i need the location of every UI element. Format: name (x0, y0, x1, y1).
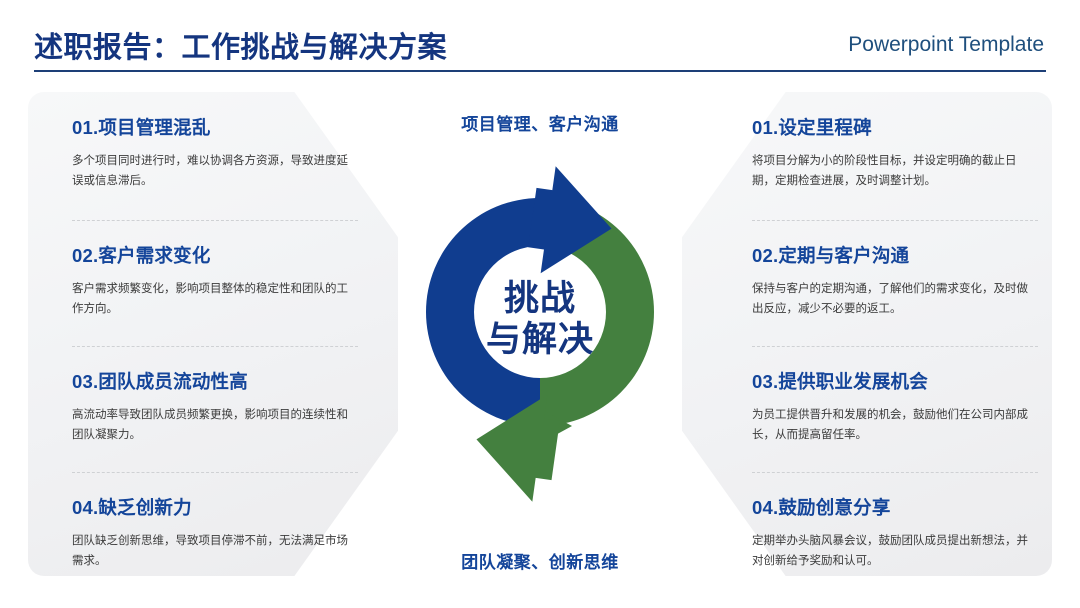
cycle-center-label: 挑战 与解决 (390, 278, 690, 361)
item-divider (72, 220, 358, 221)
item-title: 03.团队成员流动性高 (72, 368, 362, 394)
slide: 述职报告：工作挑战与解决方案 Powerpoint Template 01.项目… (0, 0, 1080, 608)
item-title: 04.鼓励创意分享 (752, 494, 1042, 520)
cycle-bottom-caption: 团队凝聚、创新思维 (390, 548, 690, 573)
item-divider (752, 472, 1038, 473)
cycle-center-label-line1: 挑战 (390, 278, 690, 319)
list-item[interactable]: 04.缺乏创新力 团队缺乏创新思维，导致项目停滞不前，无法满足市场需求。 (72, 494, 362, 571)
list-item[interactable]: 04.鼓励创意分享 定期举办头脑风暴会议，鼓励团队成员提出新想法，并对创新给予奖… (752, 494, 1042, 571)
page-title: 述职报告：工作挑战与解决方案 (34, 24, 447, 66)
item-description: 将项目分解为小的阶段性目标，并设定明确的截止日期，定期检查进展，及时调整计划。 (752, 151, 1032, 191)
item-description: 多个项目同时进行时，难以协调各方资源，导致进度延误或信息滞后。 (72, 151, 352, 191)
item-description: 定期举办头脑风暴会议，鼓励团队成员提出新想法，并对创新给予奖励和认可。 (752, 531, 1032, 571)
item-divider (72, 472, 358, 473)
item-description: 客户需求频繁变化，影响项目整体的稳定性和团队的工作方向。 (72, 279, 352, 319)
item-title: 02.客户需求变化 (72, 242, 362, 268)
item-title: 03.提供职业发展机会 (752, 368, 1042, 394)
item-description: 为员工提供晋升和发展的机会，鼓励他们在公司内部成长，从而提高留任率。 (752, 405, 1032, 445)
cycle-top-caption: 项目管理、客户沟通 (390, 110, 690, 135)
item-divider (72, 346, 358, 347)
list-item[interactable]: 01.设定里程碑 将项目分解为小的阶段性目标，并设定明确的截止日期，定期检查进展… (752, 114, 1042, 191)
list-item[interactable]: 03.提供职业发展机会 为员工提供晋升和发展的机会，鼓励他们在公司内部成长，从而… (752, 368, 1042, 445)
item-divider (752, 220, 1038, 221)
item-description: 保持与客户的定期沟通，了解他们的需求变化，及时做出反应，减少不必要的返工。 (752, 279, 1032, 319)
item-title: 02.定期与客户沟通 (752, 242, 1042, 268)
slide-header: 述职报告：工作挑战与解决方案 Powerpoint Template (0, 0, 1080, 80)
item-title: 04.缺乏创新力 (72, 494, 362, 520)
cycle-diagram: 项目管理、客户沟通 挑战 与解决 团队凝聚 (390, 92, 690, 576)
item-title: 01.项目管理混乱 (72, 114, 362, 140)
list-item[interactable]: 01.项目管理混乱 多个项目同时进行时，难以协调各方资源，导致进度延误或信息滞后… (72, 114, 362, 191)
list-item[interactable]: 02.定期与客户沟通 保持与客户的定期沟通，了解他们的需求变化，及时做出反应，减… (752, 242, 1042, 319)
list-item[interactable]: 03.团队成员流动性高 高流动率导致团队成员频繁更换，影响项目的连续性和团队凝聚… (72, 368, 362, 445)
list-item[interactable]: 02.客户需求变化 客户需求频繁变化，影响项目整体的稳定性和团队的工作方向。 (72, 242, 362, 319)
item-description: 团队缺乏创新思维，导致项目停滞不前，无法满足市场需求。 (72, 531, 352, 571)
item-description: 高流动率导致团队成员频繁更换，影响项目的连续性和团队凝聚力。 (72, 405, 352, 445)
item-title: 01.设定里程碑 (752, 114, 1042, 140)
cycle-center-label-line2: 与解决 (390, 319, 690, 360)
item-divider (752, 346, 1038, 347)
header-divider (34, 70, 1046, 72)
header-subtitle: Powerpoint Template (848, 33, 1044, 57)
